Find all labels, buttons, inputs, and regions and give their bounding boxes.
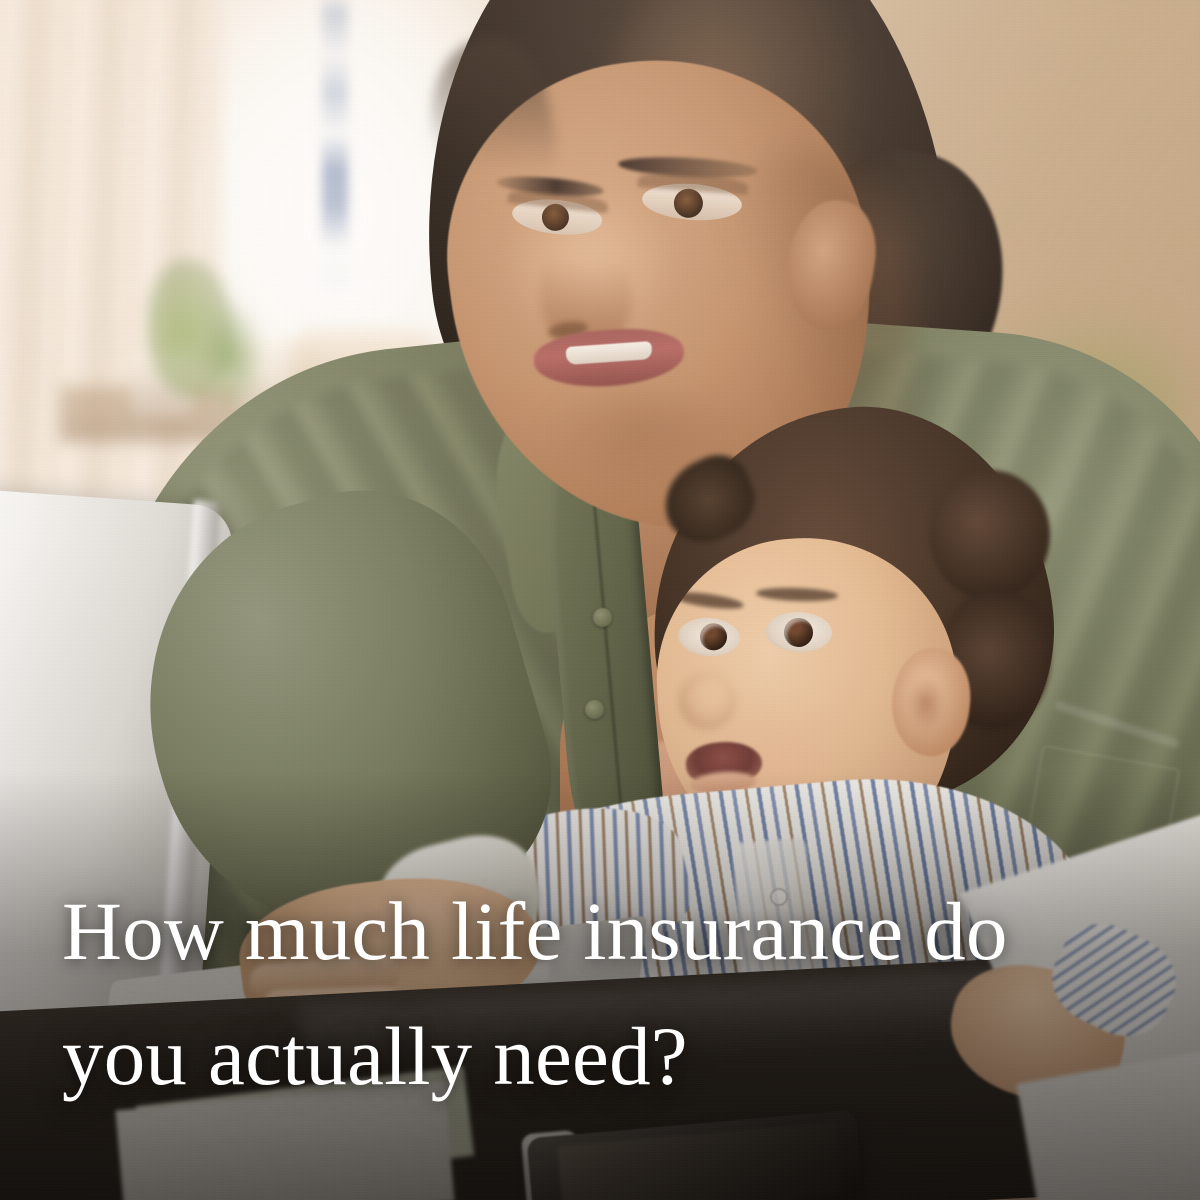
headline-text: How much life insurance do you actually … [62,869,1122,1118]
baby-ear-inner [908,676,944,730]
shirt-button-lower [585,700,604,719]
window-blind-strip [322,0,348,290]
social-card-canvas: How much life insurance do you actually … [0,0,1200,1200]
shirt-button-upper [593,608,612,627]
baby-nose [678,672,736,730]
baby-hair-curl-a [930,470,1050,600]
